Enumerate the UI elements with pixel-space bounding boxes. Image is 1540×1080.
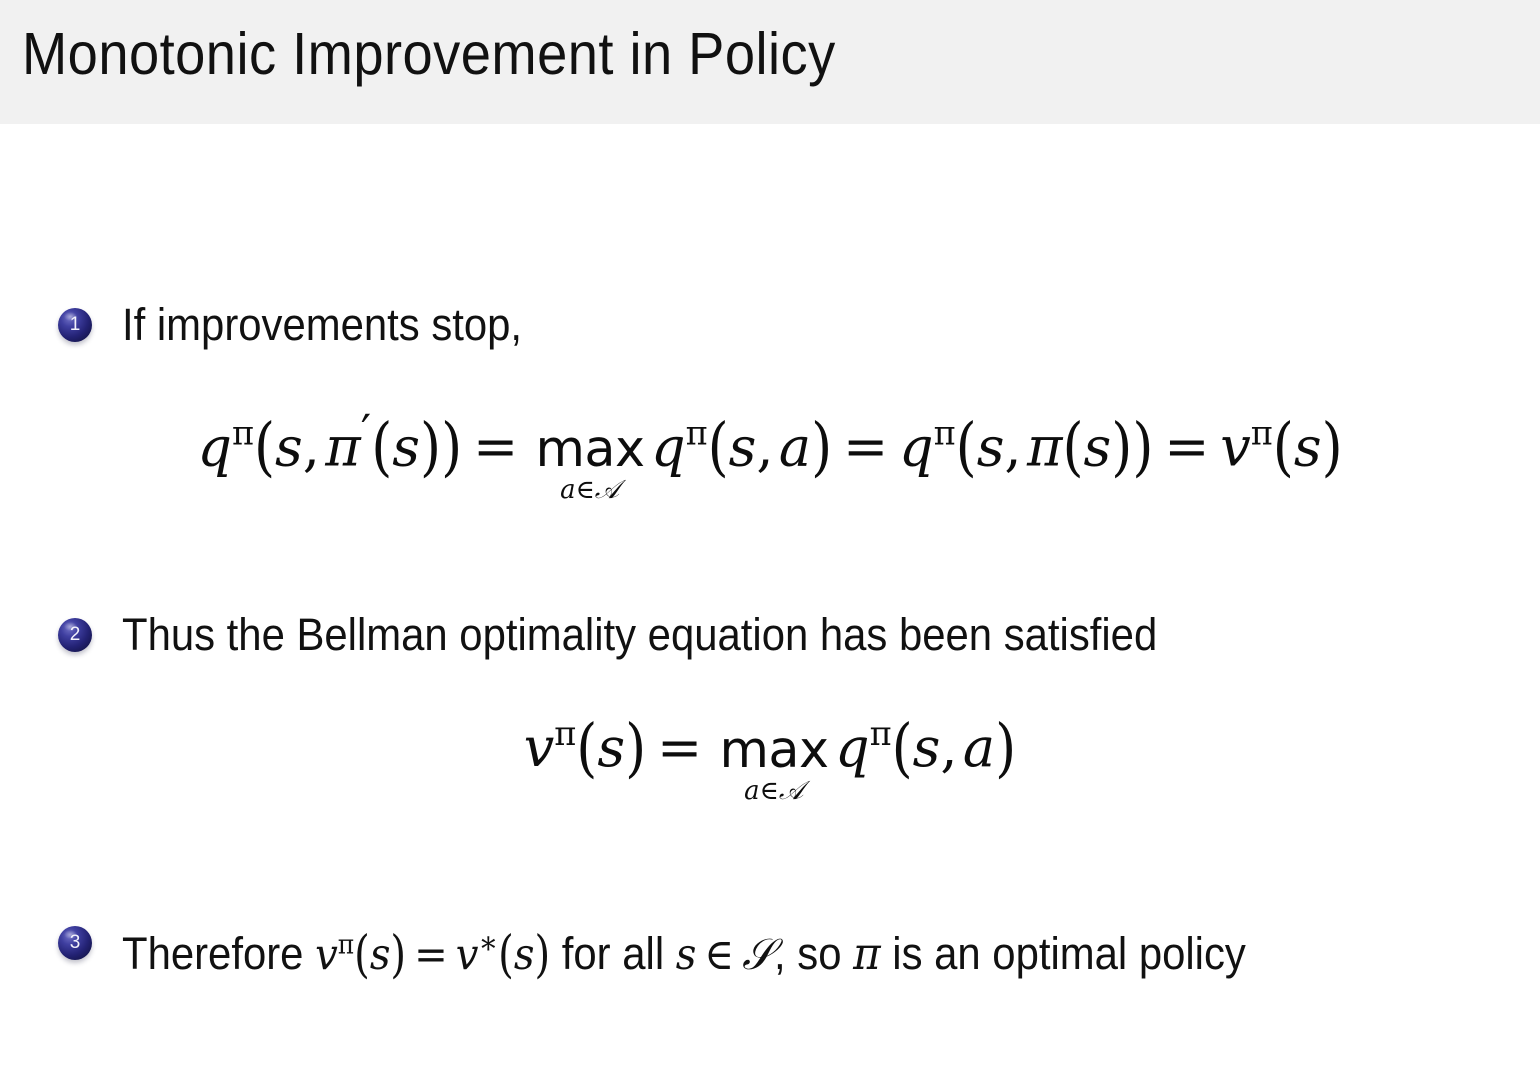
list-item-3: 3 Therefore vπ(s)=v∗(s) for all s∈𝒮, so … (58, 914, 1330, 984)
inline-math-pi: π (853, 927, 881, 980)
enumerate-ball-number: 3 (58, 926, 92, 960)
enumerate-ball-3: 3 (58, 926, 92, 960)
list-item-3-text: Therefore vπ(s)=v∗(s) for all s∈𝒮, so π … (122, 914, 1246, 984)
enumerate-ball-1: 1 (58, 308, 92, 342)
page-title: Monotonic Improvement in Policy (22, 20, 836, 88)
enumerate-ball-2: 2 (58, 618, 92, 652)
slide-content: 1 If improvements stop, qπ(s, π′(s))=max… (0, 124, 1540, 1080)
list-item-3-tail: , so (774, 928, 853, 979)
list-item-3-lead: Therefore (122, 928, 315, 979)
equation-2: vπ(s)=maxa∈𝒜qπ(s, a) (0, 714, 1540, 805)
inline-math-v-pi-equals-v-star: vπ(s)=v∗(s) (315, 930, 550, 980)
list-item-1-text: If improvements stop, (122, 296, 522, 354)
list-item-2: 2 Thus the Bellman optimality equation h… (58, 606, 1235, 664)
equation-1: qπ(s, π′(s))=maxa∈𝒜qπ(s, a)=qπ(s, π(s))=… (0, 404, 1540, 505)
list-item-2-text: Thus the Bellman optimality equation has… (122, 606, 1157, 664)
slide-title-bar: Monotonic Improvement in Policy (0, 0, 1540, 124)
enumerate-ball-number: 2 (58, 618, 92, 652)
enumerate-ball-number: 1 (58, 308, 92, 342)
list-item-1: 1 If improvements stop, (58, 296, 552, 354)
list-item-3-mid: for all (550, 928, 676, 979)
inline-math-s-in-calS: s∈𝒮 (676, 930, 774, 980)
list-item-3-end: is an optimal policy (881, 928, 1246, 979)
slide-root: { "slide": { "title": "Monotonic Improve… (0, 0, 1540, 1080)
